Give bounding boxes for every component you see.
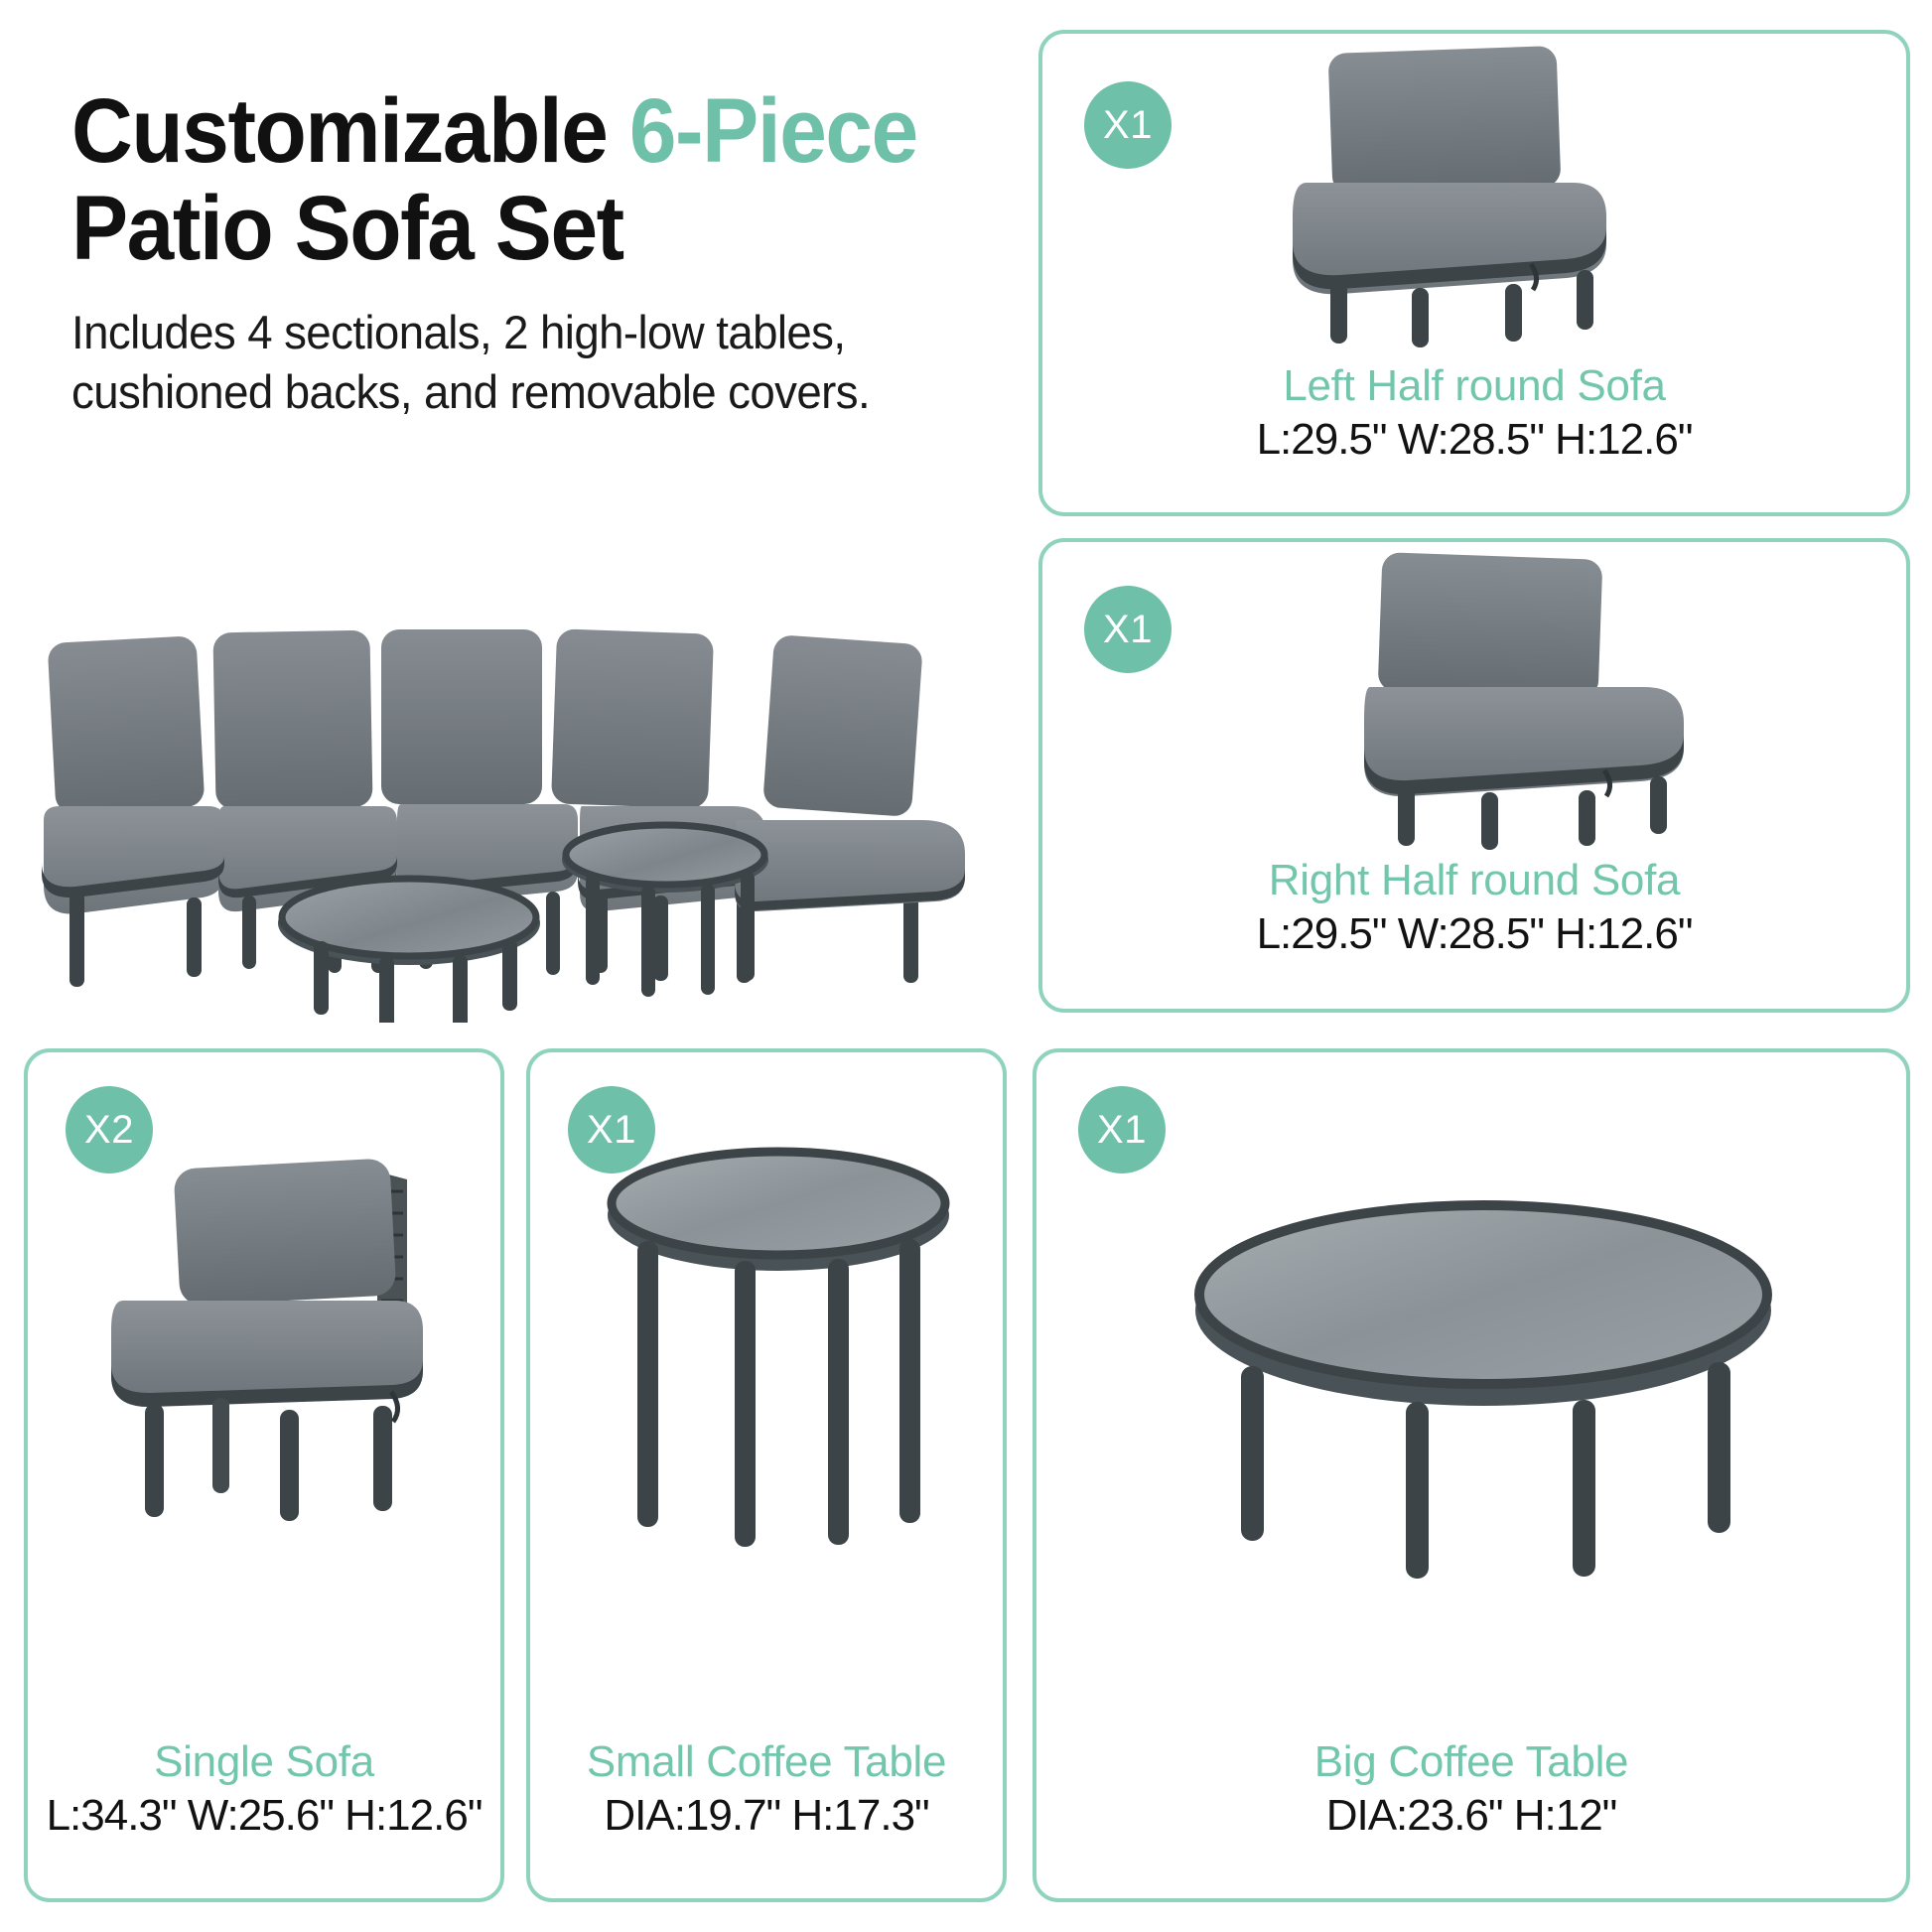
card-caption: Big Coffee Table DIA:23.6" H:12" (1036, 1737, 1906, 1841)
card-dimensions: DIA:19.7" H:17.3" (530, 1790, 1003, 1841)
product-card-left-half-round-sofa[interactable]: X1 Left Half r (1038, 30, 1910, 516)
quantity-badge: X2 (66, 1086, 153, 1173)
card-title: Left Half round Sofa (1042, 361, 1906, 410)
card-caption: Small Coffee Table DIA:19.7" H:17.3" (530, 1737, 1003, 1841)
page-title: Customizable 6-PiecePatio Sofa Set (71, 83, 958, 277)
quantity-badge: X1 (1084, 586, 1172, 673)
quantity-badge: X1 (1078, 1086, 1166, 1173)
card-title: Single Sofa (28, 1737, 500, 1786)
hero-big-coffee-table (278, 879, 540, 1023)
card-title: Right Half round Sofa (1042, 856, 1906, 904)
product-card-small-coffee-table[interactable]: X1 Small Coffee Table DIA:19.7" H:17.3" (526, 1048, 1007, 1902)
product-card-big-coffee-table[interactable]: X1 Big Coffee Table DIA:23.6" H:12" (1033, 1048, 1910, 1902)
big-coffee-table-illustration (1036, 1052, 1906, 1737)
product-card-single-sofa[interactable]: X2 (24, 1048, 504, 1902)
card-dimensions: L:29.5" W:28.5" H:12.6" (1042, 908, 1906, 959)
header-block: Customizable 6-PiecePatio Sofa Set Inclu… (71, 83, 1025, 422)
right-half-round-sofa-illustration (1042, 542, 1906, 860)
quantity-badge: X1 (568, 1086, 655, 1173)
card-dimensions: L:34.3" W:25.6" H:12.6" (28, 1790, 500, 1841)
hero-back-cushions (48, 628, 714, 814)
card-caption: Single Sofa L:34.3" W:25.6" H:12.6" (28, 1737, 500, 1841)
title-accent: 6-Piece (629, 80, 917, 182)
hero-right-seat (735, 634, 965, 911)
card-caption: Right Half round Sofa L:29.5" W:28.5" H:… (1042, 856, 1906, 959)
card-dimensions: L:29.5" W:28.5" H:12.6" (1042, 414, 1906, 465)
card-caption: Left Half round Sofa L:29.5" W:28.5" H:1… (1042, 361, 1906, 465)
hero-product-image (30, 625, 1023, 1023)
quantity-badge: X1 (1084, 81, 1172, 169)
card-dimensions: DIA:23.6" H:12" (1036, 1790, 1906, 1841)
sectional-set-illustration (30, 625, 1023, 1023)
page-subtitle: Includes 4 sectionals, 2 high-low tables… (71, 303, 996, 422)
card-title: Small Coffee Table (530, 1737, 1003, 1786)
left-half-round-sofa-illustration (1042, 34, 1906, 361)
product-card-right-half-round-sofa[interactable]: X1 Right Half round Sofa L:29.5" W:28.5"… (1038, 538, 1910, 1013)
title-line2: Patio Sofa Set (71, 178, 623, 279)
title-main: Customizable (71, 80, 629, 182)
card-title: Big Coffee Table (1036, 1737, 1906, 1786)
